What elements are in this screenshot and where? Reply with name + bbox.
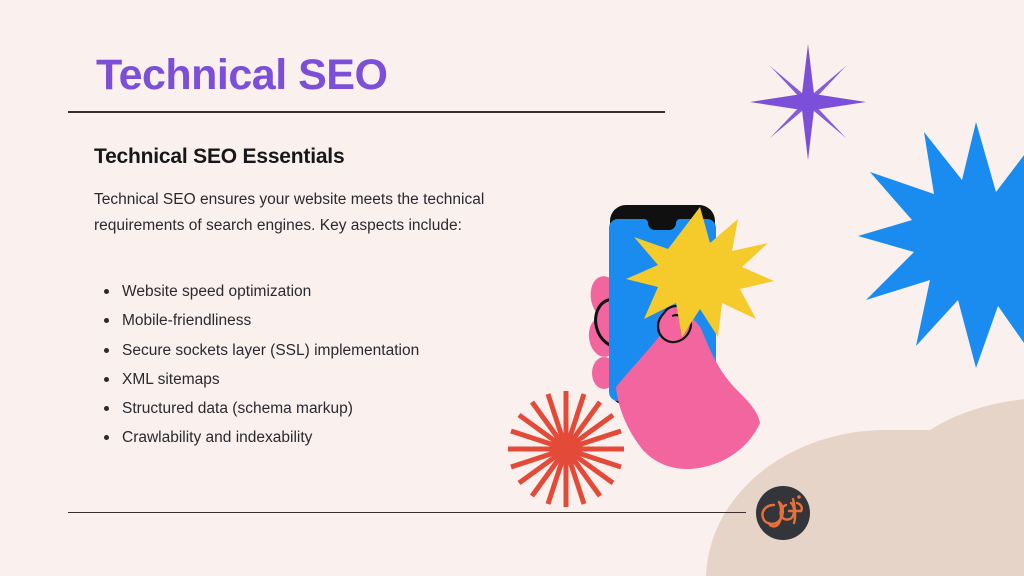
bullet-dot-icon	[104, 318, 109, 323]
list-item-label: Website speed optimization	[122, 283, 311, 300]
blue-starburst	[858, 120, 1024, 370]
intro-paragraph: Technical SEO ensures your website meets…	[94, 187, 494, 239]
bullet-dot-icon	[104, 435, 109, 440]
bullet-dot-icon	[104, 377, 109, 382]
list-item: Website speed optimization	[96, 277, 526, 306]
footer-divider	[68, 512, 746, 513]
list-item-label: Structured data (schema markup)	[122, 400, 353, 417]
list-item: XML sitemaps	[96, 365, 526, 394]
brand-logo-badge	[753, 483, 813, 543]
bullet-dot-icon	[104, 406, 109, 411]
slide-canvas: Technical SEO Technical SEO Essentials T…	[0, 0, 1024, 576]
purple-sparkle-star	[748, 42, 868, 162]
title-divider	[68, 111, 665, 113]
list-item-label: Secure sockets layer (SSL) implementatio…	[122, 342, 419, 359]
list-item: Structured data (schema markup)	[96, 394, 526, 423]
list-item-label: Crawlability and indexability	[122, 429, 312, 446]
logo-dot	[797, 495, 801, 499]
bullet-dot-icon	[104, 289, 109, 294]
list-item-label: XML sitemaps	[122, 371, 220, 388]
section-subheading: Technical SEO Essentials	[94, 145, 344, 169]
list-item: Crawlability and indexability	[96, 423, 526, 452]
bullet-dot-icon	[104, 348, 109, 353]
list-item: Secure sockets layer (SSL) implementatio…	[96, 336, 526, 365]
list-item: Mobile-friendliness	[96, 306, 526, 335]
hand-holding-phone	[560, 185, 810, 515]
essentials-bullet-list: Website speed optimization Mobile-friend…	[96, 277, 526, 453]
list-item-label: Mobile-friendliness	[122, 312, 251, 329]
page-title: Technical SEO	[96, 52, 387, 99]
